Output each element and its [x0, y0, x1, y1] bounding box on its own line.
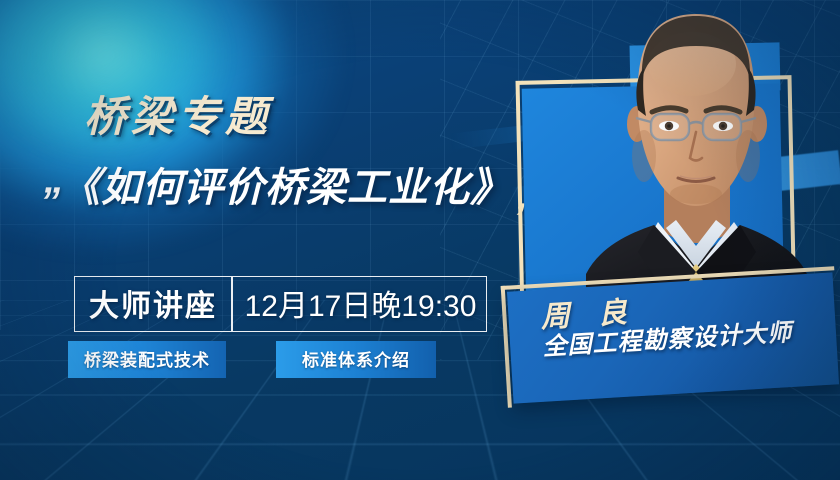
vignette-overlay	[0, 0, 840, 480]
lecture-poster: 桥梁专题 ” 《如何评价桥梁工业化》 ” 大师讲座 12月17日晚19:30 桥…	[0, 0, 840, 480]
